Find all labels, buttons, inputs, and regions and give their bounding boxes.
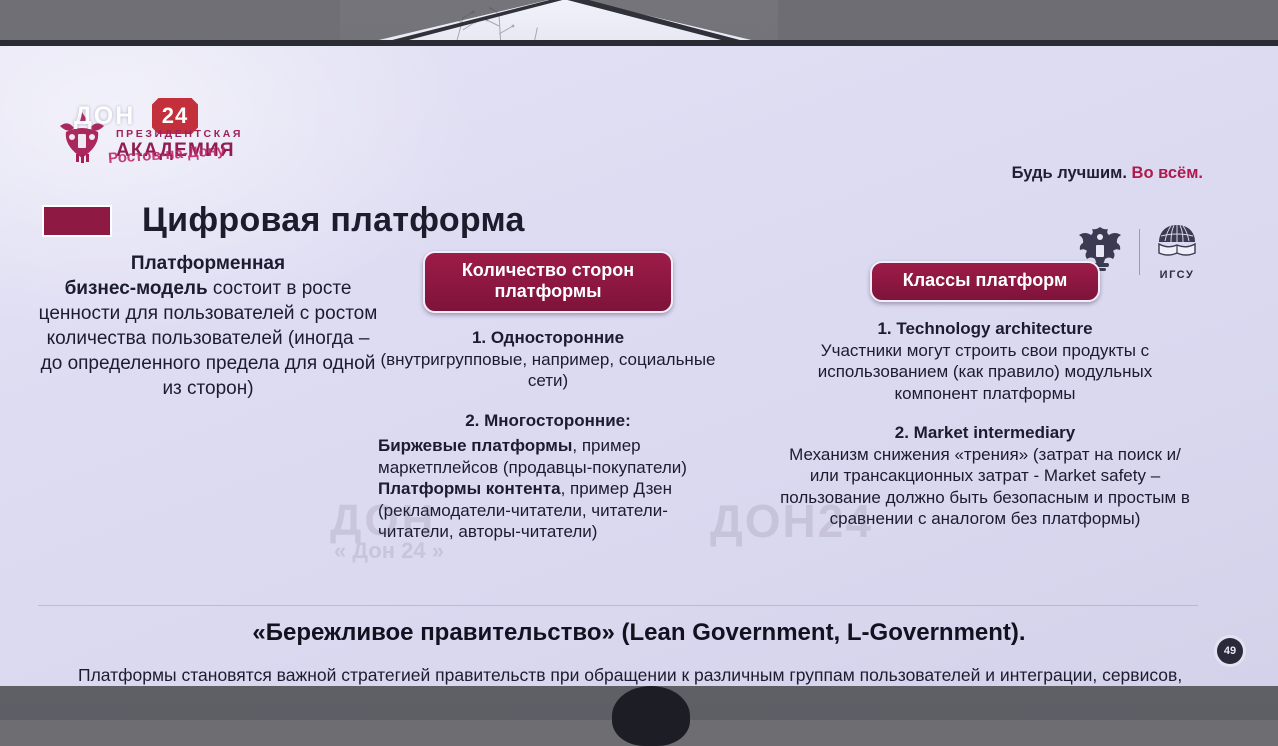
tagline-accent: Во всём. — [1132, 164, 1203, 182]
middle-item-1-heading: 1. Односторонние — [378, 327, 718, 349]
middle-badge-wrap: Количество сторон платформы — [378, 251, 718, 313]
page-number-badge: 49 — [1217, 638, 1243, 664]
middle-item-2-heading: 2. Многосторонние: — [378, 410, 718, 432]
bottom-title: «Бережливое правительство» (Lean Governm… — [0, 611, 1278, 647]
slide-title-row: Цифровая платформа — [42, 201, 525, 240]
academy-logo: ДОН 24 ПРЕЗИДЕНТСКАЯ АКАДЕМИЯ Ростов-на-… — [50, 104, 260, 166]
middle-item-1-body: (внутригрупповые, например, социальные с… — [378, 349, 718, 392]
left-column-lead: Платформенная бизнес-модель состоит в ро… — [38, 251, 378, 401]
right-item-1-body: Участники могут строить свои продукты с … — [775, 340, 1195, 405]
right-item-2-body: Механизм снижения «трения» (затрат на по… — [775, 444, 1195, 530]
title-swatch — [42, 205, 112, 237]
middle-item-2-body-2: Платформы контента, пример Дзен (рекламо… — [378, 478, 718, 543]
left-lead-bold-1: Платформенная — [131, 253, 285, 274]
middle-item-2-body-1: Биржевые платформы, пример маркетплейсов… — [378, 435, 718, 478]
don24-text: ДОН — [74, 102, 135, 131]
middle-item-2-bold-1: Биржевые платформы — [378, 436, 572, 455]
tagline: Будь лучшим. Во всём. — [1012, 164, 1203, 183]
column-right: Классы платформ 1. Technology architectu… — [775, 251, 1195, 530]
column-middle: Количество сторон платформы 1. Односторо… — [378, 251, 718, 543]
middle-item-1: 1. Односторонние (внутригрупповые, напри… — [378, 327, 718, 392]
right-item-2-heading: 2. Market intermediary — [775, 422, 1195, 444]
academy-line1: ПРЕЗИДЕНТСКАЯ — [116, 128, 243, 140]
column-left: Платформенная бизнес-модель состоит в ро… — [38, 251, 378, 401]
slide-columns: Платформенная бизнес-модель состоит в ро… — [0, 251, 1278, 606]
right-badge-wrap: Классы платформ — [775, 251, 1195, 302]
right-item-1: 1. Technology architecture Участники мог… — [775, 318, 1195, 404]
slide-bottom-block: «Бережливое правительство» (Lean Governm… — [0, 611, 1278, 686]
tagline-main: Будь лучшим. — [1012, 164, 1127, 182]
middle-item-2: 2. Многосторонние: Биржевые платформы, п… — [378, 410, 718, 543]
projected-slide: ДОН 24 ПРЕЗИДЕНТСКАЯ АКАДЕМИЯ Ростов-на-… — [0, 46, 1278, 686]
left-lead-bold-2: бизнес-модель — [65, 278, 208, 299]
bottom-body: Платформы становятся важной стратегией п… — [0, 647, 1278, 686]
right-item-1-heading: 1. Technology architecture — [775, 318, 1195, 340]
badge-platform-sides[interactable]: Количество сторон платформы — [423, 251, 673, 313]
badge-platform-classes[interactable]: Классы платформ — [870, 261, 1100, 302]
page-title: Цифровая платформа — [142, 201, 525, 240]
right-item-2: 2. Market intermediary Механизм снижения… — [775, 422, 1195, 530]
middle-item-2-bold-2: Платформы контента — [378, 479, 561, 498]
bottom-divider — [38, 605, 1198, 606]
audience-head-silhouette — [612, 686, 690, 746]
